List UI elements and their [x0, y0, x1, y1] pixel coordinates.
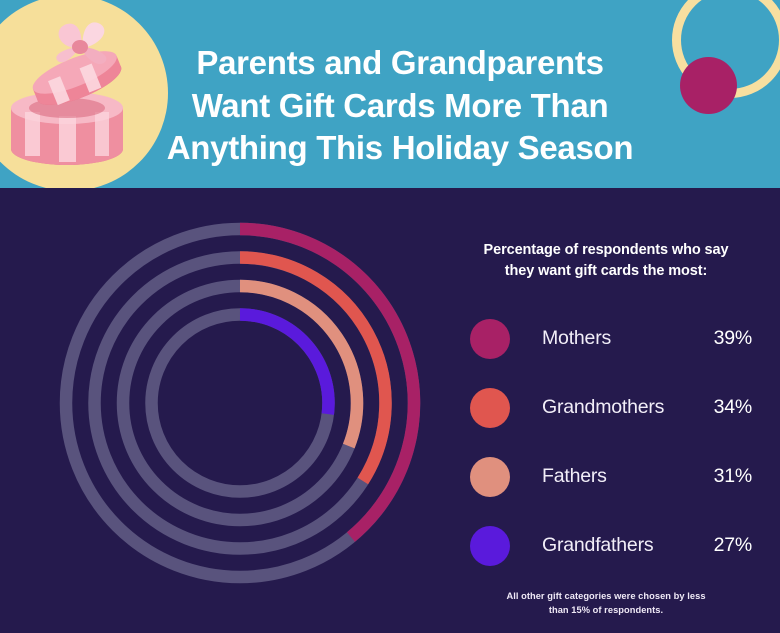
legend-swatch-grandmothers — [470, 388, 510, 428]
legend-value-mothers: 39% — [686, 327, 762, 350]
legend-label-fathers: Fathers — [542, 465, 686, 488]
legend-title-line-1: Percentage of respondents who say — [462, 240, 750, 261]
legend-footnote-line-1: All other gift categories were chosen by… — [462, 590, 750, 604]
legend-value-grandfathers: 27% — [686, 534, 762, 557]
legend: Percentage of respondents who say they w… — [462, 240, 762, 618]
gift-box-icon — [5, 12, 145, 172]
legend-swatch-fathers — [470, 457, 510, 497]
infographic-page: Parents and Grandparents Want Gift Cards… — [0, 0, 780, 633]
radial-arc-grandfathers — [240, 315, 328, 415]
magenta-dot-icon — [680, 57, 737, 114]
header-banner: Parents and Grandparents Want Gift Cards… — [0, 0, 780, 188]
legend-swatch-grandfathers — [470, 526, 510, 566]
chart-body: Percentage of respondents who say they w… — [0, 188, 780, 633]
legend-footnote: All other gift categories were chosen by… — [462, 590, 750, 618]
legend-rows: Mothers 39% Grandmothers 34% Fathers 31%… — [462, 304, 762, 580]
legend-item-fathers[interactable]: Fathers 31% — [462, 442, 762, 511]
legend-label-grandmothers: Grandmothers — [542, 396, 686, 419]
legend-title-line-2: they want gift cards the most: — [462, 261, 750, 282]
legend-swatch-mothers — [470, 319, 510, 359]
legend-item-grandmothers[interactable]: Grandmothers 34% — [462, 373, 762, 442]
radial-chart — [30, 188, 460, 618]
legend-title: Percentage of respondents who say they w… — [462, 240, 750, 281]
legend-label-grandfathers: Grandfathers — [542, 534, 686, 557]
page-title-line-2: Want Gift Cards More Than — [150, 85, 650, 128]
radial-chart-rings — [66, 229, 414, 577]
legend-footnote-line-2: than 15% of respondents. — [462, 604, 750, 618]
page-title-line-3: Anything This Holiday Season — [150, 127, 650, 170]
legend-value-grandmothers: 34% — [686, 396, 762, 419]
legend-item-grandfathers[interactable]: Grandfathers 27% — [462, 511, 762, 580]
legend-item-mothers[interactable]: Mothers 39% — [462, 304, 762, 373]
legend-label-mothers: Mothers — [542, 327, 686, 350]
radial-chart-svg — [30, 188, 460, 618]
legend-value-fathers: 31% — [686, 465, 762, 488]
page-title-line-1: Parents and Grandparents — [150, 42, 650, 85]
page-title: Parents and Grandparents Want Gift Cards… — [150, 42, 650, 170]
